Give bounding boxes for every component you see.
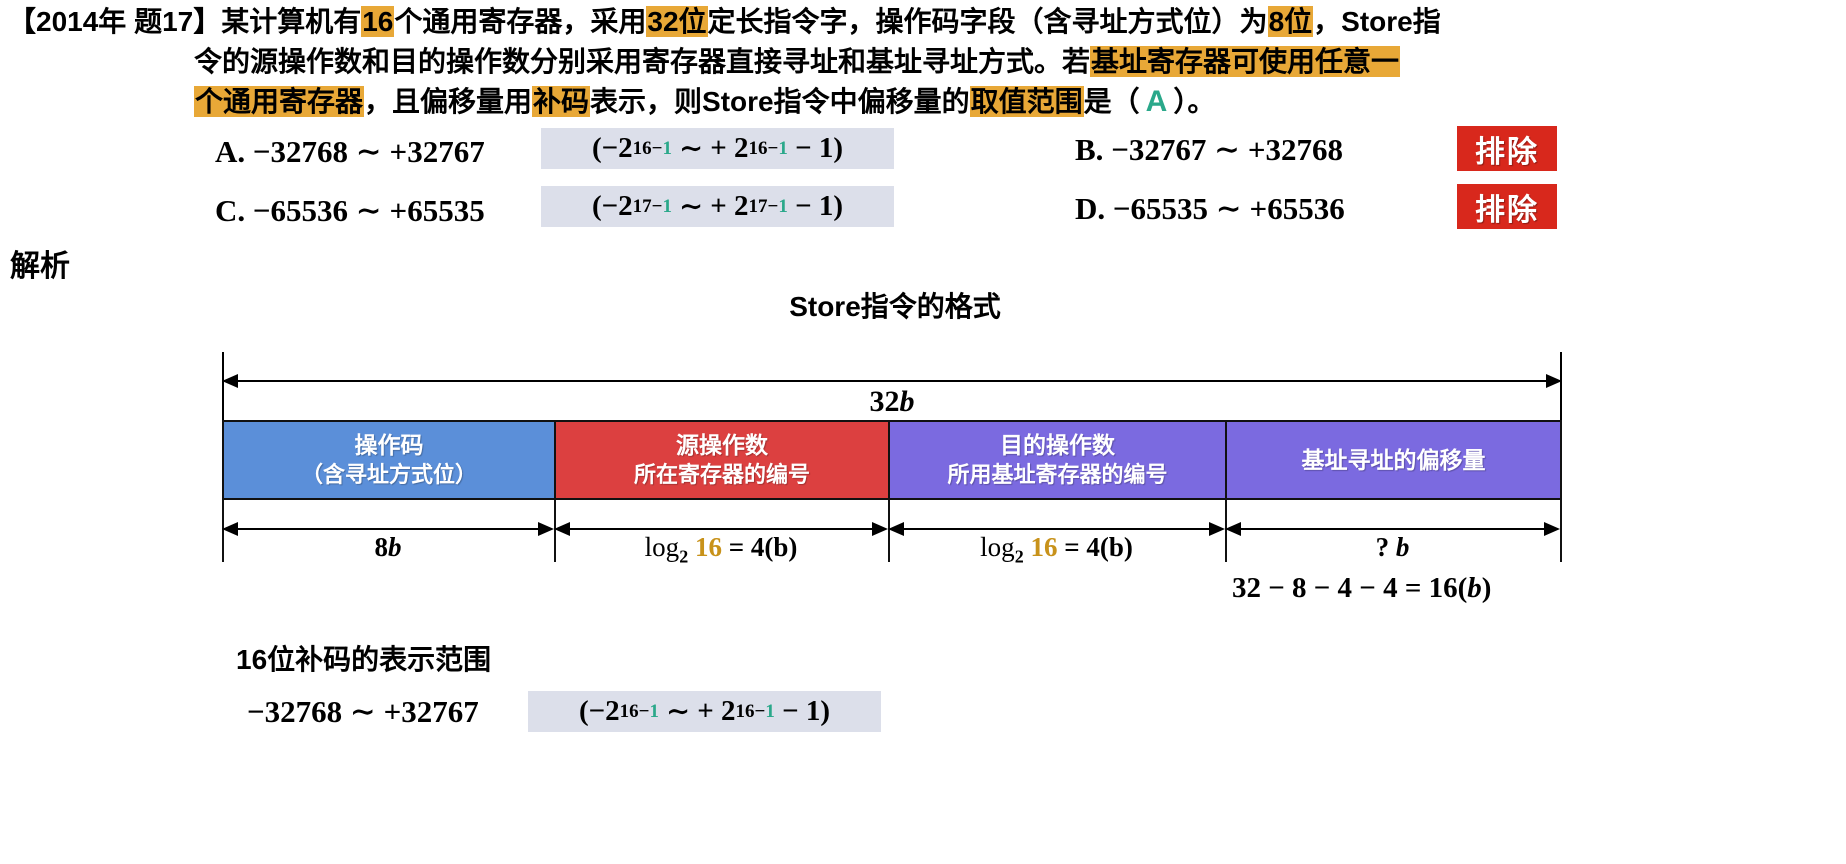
- bottom-range-text: −32768 ∼ +32767: [247, 694, 479, 730]
- question-tail-1: ，Store指: [1313, 6, 1441, 37]
- diagram-title: Store指令的格式: [0, 285, 1790, 325]
- formula-box-c: (−217−1∼+ 217−1 − 1): [541, 186, 894, 227]
- exclude-badge-d[interactable]: 排除: [1457, 184, 1557, 229]
- option-d[interactable]: D. −65535 ∼ +65536: [1075, 191, 1345, 227]
- highlight-16: 16: [361, 6, 394, 37]
- dim-arrow-opcode: 8b: [222, 528, 554, 530]
- options-area: A. −32768 ∼ +32767 C. −65536 ∼ +65535 B.…: [0, 124, 1846, 234]
- highlight-value-range: 取值范围: [970, 86, 1084, 117]
- formula-c-exp2-one: 1: [778, 196, 788, 217]
- dim-label-offset: ? b: [1366, 532, 1420, 563]
- block-dest-line2: 所用基址寄存器的编号: [947, 460, 1167, 490]
- dim-dest-num: 16: [1030, 532, 1057, 562]
- option-b[interactable]: B. −32767 ∼ +32768: [1075, 132, 1343, 168]
- dim-arrow-offset: ? b: [1225, 528, 1560, 530]
- formula-a-tilde: ∼: [672, 131, 710, 166]
- question-line-3: 个通用寄存器，且偏移量用补码表示，则Store指令中偏移量的取值范围是（A）。: [8, 82, 1838, 122]
- option-a-range: −32768 ∼ +32767: [253, 134, 485, 169]
- block-source-operand[interactable]: 源操作数 所在寄存器的编号: [556, 422, 890, 498]
- formula-a-tail: − 1): [795, 132, 843, 165]
- formula-a-exp: 16−: [633, 138, 663, 159]
- field-width-annotations: 8b log2 16 = 4(b) log2 16 = 4(b) ? b: [222, 500, 1562, 562]
- offset-width-equation: 32 − 8 − 4 − 4 = 16(b): [1232, 572, 1491, 605]
- dim-label-source: log2 16 = 4(b): [635, 532, 808, 567]
- block-opcode[interactable]: 操作码 （含寻址方式位）: [224, 422, 556, 498]
- slide-root: 【2014年 题17】某计算机有16个通用寄存器，采用32位定长指令字，操作码字…: [0, 0, 1846, 864]
- instruction-field-blocks: 操作码 （含寻址方式位） 源操作数 所在寄存器的编号 目的操作数 所用基址寄存器…: [222, 420, 1562, 500]
- answer-letter: A: [1140, 85, 1174, 118]
- question-mid-1: 个通用寄存器，采用: [394, 6, 646, 37]
- formula-bot-open: (−2: [579, 695, 620, 728]
- dim-arrow-source: log2 16 = 4(b): [554, 528, 888, 530]
- question-line2-text: 令的源操作数和目的操作数分别采用寄存器直接寻址和基址寻址方式。若: [194, 46, 1090, 77]
- exclude-badge-b[interactable]: 排除: [1457, 126, 1557, 171]
- dim-source-sub: 2: [679, 546, 688, 566]
- highlight-8bit: 8位: [1268, 6, 1314, 37]
- dim-source-num: 16: [695, 532, 722, 562]
- dim-label-dest: log2 16 = 4(b): [970, 532, 1143, 567]
- block-dest-operand[interactable]: 目的操作数 所用基址寄存器的编号: [890, 422, 1227, 498]
- question-mid-2: 定长指令字，操作码字段（含寻址方式位）为: [708, 6, 1268, 37]
- question-prefix: 【2014年 题17】某计算机有: [8, 6, 361, 37]
- block-offset-line1: 基址寻址的偏移量: [1302, 445, 1486, 475]
- formula-c-tilde: ∼: [672, 189, 710, 224]
- arrow-head-left-icon: [222, 374, 238, 388]
- option-c-label: C.: [215, 193, 245, 228]
- arrow-head-right-icon: [1546, 374, 1562, 388]
- bottom-section-title: 16位补码的表示范围: [236, 638, 491, 678]
- formula-a-plus: + 2: [710, 132, 748, 165]
- block-source-line1: 源操作数: [676, 430, 768, 460]
- formula-bot-exp-one: 1: [649, 701, 659, 722]
- formula-bot-exp: 16−: [620, 701, 650, 722]
- option-a[interactable]: A. −32768 ∼ +32767: [215, 134, 485, 170]
- question-line-2: 令的源操作数和目的操作数分别采用寄存器直接寻址和基址寻址方式。若基址寄存器可使用…: [8, 42, 1838, 82]
- formula-c-exp2: 17−: [749, 196, 779, 217]
- dim-source-log: log: [645, 532, 680, 562]
- block-opcode-line1: 操作码: [355, 430, 424, 460]
- question-block: 【2014年 题17】某计算机有16个通用寄存器，采用32位定长指令字，操作码字…: [8, 2, 1838, 122]
- formula-c-tail: − 1): [795, 190, 843, 223]
- dim-label-opcode: 8b: [365, 532, 412, 563]
- total-span-label: 32b: [856, 385, 929, 419]
- question-answer-open: 是（: [1084, 86, 1140, 117]
- option-b-label: B.: [1075, 132, 1103, 167]
- block-dest-line1: 目的操作数: [1000, 430, 1115, 460]
- formula-bot-tilde: ∼: [659, 694, 697, 729]
- option-c[interactable]: C. −65536 ∼ +65535: [215, 193, 485, 229]
- dim-arrow-dest: log2 16 = 4(b): [888, 528, 1225, 530]
- formula-a-exp2-one: 1: [778, 138, 788, 159]
- option-d-label: D.: [1075, 191, 1105, 226]
- analysis-label: 解析: [10, 241, 70, 285]
- question-line3-mid: ，且偏移量用: [364, 86, 532, 117]
- formula-c-exp-one: 1: [662, 196, 672, 217]
- dim-dest-eq: = 4(b): [1064, 532, 1133, 562]
- formula-a-open: (−2: [592, 132, 633, 165]
- formula-bot-tail: − 1): [782, 695, 830, 728]
- question-line-1: 【2014年 题17】某计算机有16个通用寄存器，采用32位定长指令字，操作码字…: [8, 2, 1838, 42]
- option-a-label: A.: [215, 134, 245, 169]
- formula-a-exp2: 16−: [749, 138, 779, 159]
- block-opcode-line2: （含寻址方式位）: [301, 460, 477, 490]
- question-answer-close: ）。: [1173, 86, 1215, 117]
- highlight-32bit: 32位: [646, 6, 707, 37]
- highlight-base-register: 基址寄存器可使用任意一: [1090, 46, 1400, 77]
- formula-c-open: (−2: [592, 190, 633, 223]
- option-d-range: −65535 ∼ +65536: [1113, 191, 1345, 226]
- dim-tick-4: [1560, 500, 1562, 562]
- formula-bot-exp2-one: 1: [765, 701, 775, 722]
- block-offset[interactable]: 基址寻址的偏移量: [1227, 422, 1560, 498]
- formula-a-exp-one: 1: [662, 138, 672, 159]
- dim-dest-log: log: [980, 532, 1015, 562]
- option-c-range: −65536 ∼ +65535: [253, 193, 485, 228]
- dim-dest-sub: 2: [1015, 546, 1024, 566]
- dim-source-eq: = 4(b): [729, 532, 798, 562]
- formula-c-exp: 17−: [633, 196, 663, 217]
- formula-box-bottom: (−216−1∼+ 216−1 − 1): [528, 691, 881, 732]
- total-span-arrow: 32b: [222, 380, 1562, 382]
- block-source-line2: 所在寄存器的编号: [634, 460, 810, 490]
- question-line3-mid2: 表示，则Store指令中偏移量的: [590, 86, 970, 117]
- formula-bot-plus: + 2: [697, 695, 735, 728]
- formula-c-plus: + 2: [710, 190, 748, 223]
- highlight-general-register: 个通用寄存器: [194, 86, 364, 117]
- option-b-range: −32767 ∼ +32768: [1111, 132, 1343, 167]
- highlight-complement: 补码: [532, 86, 590, 117]
- formula-box-a: (−216−1∼+ 216−1 − 1): [541, 128, 894, 169]
- formula-bot-exp2: 16−: [736, 701, 766, 722]
